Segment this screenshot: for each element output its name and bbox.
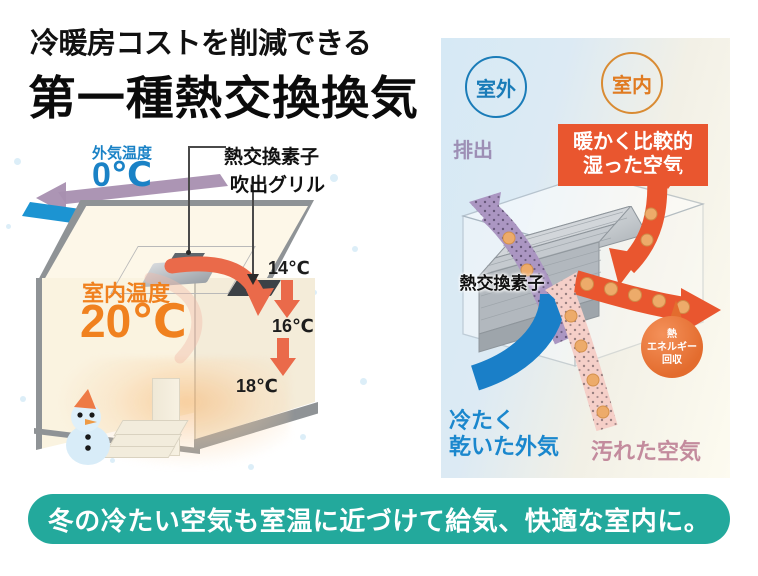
leader-dot — [186, 250, 191, 255]
zone-badge-outdoor: 室外 — [465, 56, 527, 118]
heat-exchange-element-label: 熱交換素子 — [457, 274, 547, 294]
warm-air-callout-tail — [655, 171, 681, 189]
page-title: 第一種熱交換換気 — [28, 62, 419, 128]
heat-exchange-element-label: 熱交換素子 — [224, 142, 319, 169]
snow-dot — [6, 224, 11, 229]
right-heat-exchange-diagram: 室外 室内 — [441, 38, 730, 478]
snow-dot — [20, 396, 26, 402]
energy-recovery-badge: 熱 エネルギー 回収 — [641, 316, 703, 378]
cold-air-label: 冷たく乾いた外気 — [449, 408, 559, 460]
temp-step-18: 18℃ — [236, 376, 278, 397]
title-subheading: 冷暖房コストを削減できる — [30, 20, 371, 62]
infographic-root: 冷暖房コストを削減できる 第一種熱交換換気 — [0, 0, 758, 576]
cold-air-label-text: 冷たく乾いた外気 — [449, 408, 559, 459]
temp-step-16: 16℃ — [272, 316, 314, 337]
summary-banner-text: 冬の冷たい空気も室温に近づけて給気、快適な室内に。 — [48, 501, 711, 538]
warm-air-callout: 暖かく比較的湿った空気 — [558, 124, 708, 186]
snow-dot — [360, 378, 367, 385]
leader-line-element — [188, 146, 190, 254]
indoor-temp-value: 20℃ — [80, 298, 187, 344]
snow-dot — [330, 174, 338, 182]
snowman-icon — [54, 385, 126, 469]
summary-banner: 冬の冷たい空気も室温に近づけて給気、快適な室内に。 — [28, 494, 730, 544]
zone-badge-outdoor-label: 室外 — [476, 73, 516, 102]
zone-badge-indoor: 室内 — [601, 52, 663, 114]
zone-badge-indoor-label: 室内 — [612, 69, 652, 98]
recovery-line-3: 回収 — [662, 354, 682, 367]
supply-grill-label: 吹出グリル — [230, 170, 325, 197]
leader-line-element-h — [188, 146, 226, 148]
snow-dot — [300, 434, 306, 440]
recovery-line-1: 熱 — [667, 328, 677, 341]
dirty-air-label: 汚れた空気 — [591, 434, 701, 466]
left-winter-room-diagram: 外気温度 0℃ 室内温度 20℃ 熱交換素子 吹出グリル 14℃ 16℃ 18℃ — [0, 128, 430, 483]
leader-arrowhead-icon — [246, 272, 260, 286]
exhaust-label: 排出 — [453, 134, 493, 163]
outdoor-temp-value: 0℃ — [92, 158, 152, 192]
snow-dot — [352, 246, 358, 252]
recovery-line-2: エネルギー — [647, 341, 697, 354]
snow-dot — [14, 158, 21, 165]
down-arrow-icon — [272, 280, 302, 320]
down-arrow-icon — [268, 338, 298, 378]
temp-step-14: 14℃ — [268, 258, 310, 279]
